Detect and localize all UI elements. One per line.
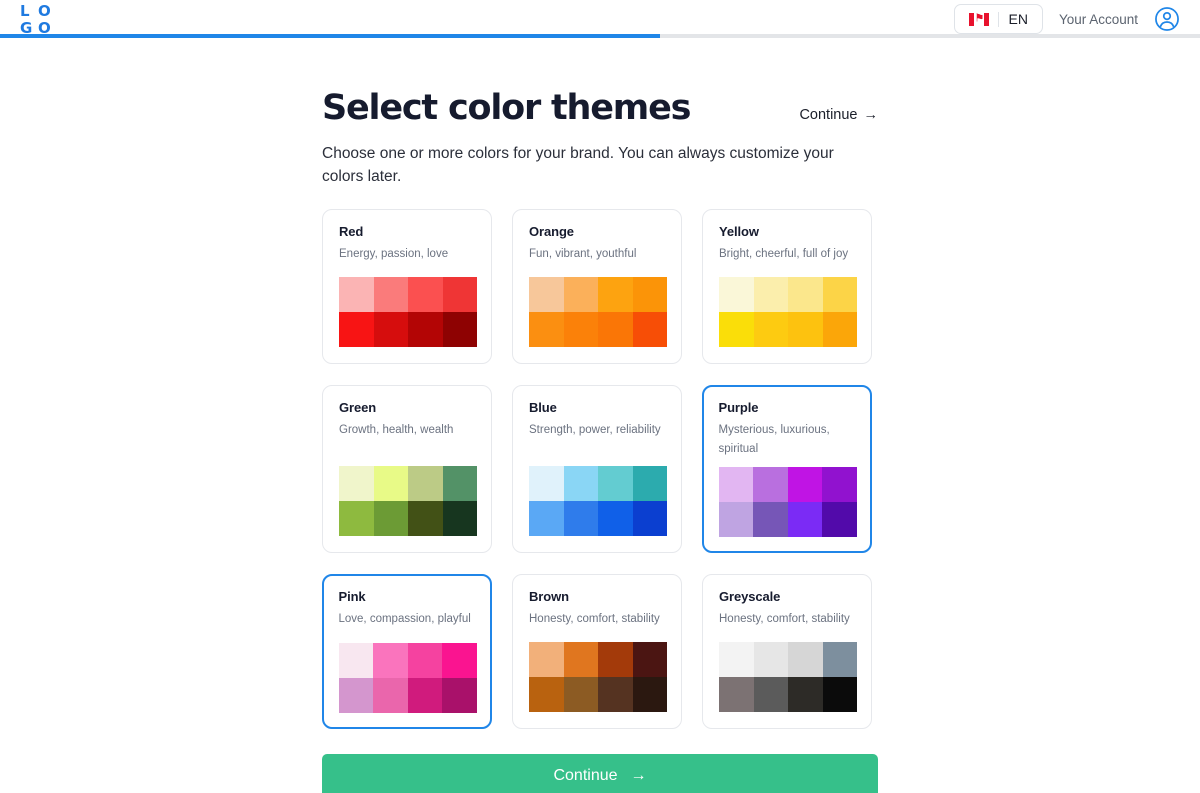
swatch-6: [754, 312, 789, 347]
swatch-4: [443, 277, 478, 312]
swatch-5: [529, 677, 564, 712]
swatch-8: [823, 312, 858, 347]
swatch-6: [374, 312, 409, 347]
swatch-2: [564, 642, 599, 677]
swatch-4: [822, 467, 857, 502]
swatch-1: [719, 642, 754, 677]
theme-card-blue[interactable]: BlueStrength, power, reliability: [512, 385, 682, 553]
theme-card-title: Brown: [529, 589, 665, 604]
swatch-2: [564, 277, 599, 312]
swatch-1: [339, 643, 374, 678]
theme-card-green[interactable]: GreenGrowth, health, wealth: [322, 385, 492, 553]
swatch-6: [753, 502, 788, 537]
swatch-8: [443, 312, 478, 347]
swatch-5: [529, 501, 564, 536]
swatch-5: [719, 312, 754, 347]
swatch-5: [339, 678, 374, 713]
main-content: Select color themes Continue → Choose on…: [0, 38, 1200, 793]
continue-button[interactable]: Continue →: [322, 754, 878, 793]
theme-card-description: Honesty, comfort, stability: [529, 610, 665, 629]
swatch-4: [443, 466, 478, 501]
swatch-7: [788, 502, 823, 537]
progress-fill: [0, 34, 660, 38]
swatch-1: [529, 277, 564, 312]
swatch-6: [564, 501, 599, 536]
swatch-6: [754, 677, 789, 712]
continue-button-label: Continue: [553, 767, 617, 785]
swatch-6: [373, 678, 408, 713]
swatch-4: [442, 643, 477, 678]
swatch-7: [788, 677, 823, 712]
theme-swatch-grid: [719, 642, 857, 712]
theme-card-brown[interactable]: BrownHonesty, comfort, stability: [512, 574, 682, 729]
theme-card-greyscale[interactable]: GreyscaleHonesty, comfort, stability: [702, 574, 872, 729]
language-switcher[interactable]: ⚑ EN: [954, 4, 1042, 34]
theme-card-purple[interactable]: PurpleMysterious, luxurious, spiritual: [702, 385, 872, 553]
theme-card-description: Honesty, comfort, stability: [719, 610, 855, 629]
swatch-8: [633, 677, 668, 712]
header-actions: ⚑ EN Your Account: [954, 4, 1180, 34]
swatch-3: [408, 466, 443, 501]
language-code: EN: [1008, 11, 1027, 27]
swatch-7: [788, 312, 823, 347]
theme-card-title: Purple: [719, 400, 856, 415]
continue-link-label: Continue: [799, 107, 857, 123]
swatch-3: [788, 467, 823, 502]
swatch-8: [633, 312, 668, 347]
theme-card-yellow[interactable]: YellowBright, cheerful, full of joy: [702, 209, 872, 364]
swatch-7: [598, 501, 633, 536]
continue-link[interactable]: Continue →: [799, 107, 878, 123]
swatch-4: [633, 642, 668, 677]
swatch-2: [754, 642, 789, 677]
theme-card-red[interactable]: RedEnergy, passion, love: [322, 209, 492, 364]
theme-card-title: Red: [339, 224, 475, 239]
swatch-7: [408, 501, 443, 536]
swatch-7: [598, 677, 633, 712]
theme-swatch-grid: [529, 642, 667, 712]
swatch-1: [529, 466, 564, 501]
swatch-7: [598, 312, 633, 347]
page-subtitle: Choose one or more colors for your brand…: [322, 142, 867, 188]
swatch-3: [788, 642, 823, 677]
theme-card-grid: RedEnergy, passion, loveOrangeFun, vibra…: [322, 209, 878, 729]
swatch-1: [339, 466, 374, 501]
theme-card-orange[interactable]: OrangeFun, vibrant, youthful: [512, 209, 682, 364]
swatch-7: [408, 312, 443, 347]
theme-swatch-grid: [529, 277, 667, 347]
theme-card-description: Strength, power, reliability: [529, 421, 665, 440]
swatch-5: [529, 312, 564, 347]
language-divider: [998, 12, 999, 27]
theme-card-description: Mysterious, luxurious, spiritual: [719, 421, 856, 459]
swatch-6: [564, 312, 599, 347]
account-label[interactable]: Your Account: [1059, 12, 1138, 27]
swatch-3: [788, 277, 823, 312]
theme-card-title: Orange: [529, 224, 665, 239]
swatch-3: [598, 466, 633, 501]
logo-letter-l: L: [20, 3, 37, 19]
theme-card-title: Greyscale: [719, 589, 855, 604]
swatch-8: [442, 678, 477, 713]
theme-card-title: Blue: [529, 400, 665, 415]
swatch-4: [633, 277, 668, 312]
theme-swatch-grid: [339, 277, 477, 347]
swatch-8: [443, 501, 478, 536]
page-title: Select color themes: [322, 88, 690, 128]
theme-card-description: Growth, health, wealth: [339, 421, 475, 440]
swatch-5: [339, 501, 374, 536]
swatch-2: [373, 643, 408, 678]
arrow-right-icon: →: [864, 107, 879, 123]
theme-card-title: Yellow: [719, 224, 855, 239]
swatch-4: [823, 277, 858, 312]
swatch-2: [754, 277, 789, 312]
swatch-3: [408, 277, 443, 312]
theme-card-description: Fun, vibrant, youthful: [529, 245, 665, 264]
swatch-5: [339, 312, 374, 347]
canada-flag-icon: ⚑: [969, 13, 989, 26]
theme-swatch-grid: [719, 277, 857, 347]
onboarding-progress-bar: [0, 34, 1200, 38]
swatch-2: [753, 467, 788, 502]
swatch-1: [719, 277, 754, 312]
swatch-1: [529, 642, 564, 677]
swatch-5: [719, 502, 754, 537]
swatch-8: [822, 502, 857, 537]
swatch-6: [564, 677, 599, 712]
swatch-8: [823, 677, 858, 712]
swatch-5: [719, 677, 754, 712]
swatch-2: [374, 466, 409, 501]
swatch-4: [823, 642, 858, 677]
swatch-2: [564, 466, 599, 501]
theme-swatch-grid: [339, 643, 477, 713]
swatch-3: [408, 643, 443, 678]
theme-card-description: Love, compassion, playful: [339, 610, 476, 629]
swatch-4: [633, 466, 668, 501]
arrow-right-icon: →: [631, 767, 647, 785]
swatch-3: [598, 642, 633, 677]
swatch-7: [408, 678, 443, 713]
swatch-8: [633, 501, 668, 536]
swatch-2: [374, 277, 409, 312]
swatch-1: [339, 277, 374, 312]
theme-swatch-grid: [529, 466, 667, 536]
theme-swatch-grid: [719, 467, 857, 537]
user-circle-icon[interactable]: [1154, 6, 1180, 32]
logo-letter-o: O: [38, 3, 55, 19]
swatch-1: [719, 467, 754, 502]
logo[interactable]: L O G O: [20, 3, 56, 37]
maple-leaf-glyph: ⚑: [975, 14, 985, 25]
swatch-6: [374, 501, 409, 536]
theme-card-title: Pink: [339, 589, 476, 604]
app-header: L O G O ⚑ EN Your Account: [0, 0, 1200, 38]
theme-card-description: Bright, cheerful, full of joy: [719, 245, 855, 264]
theme-swatch-grid: [339, 466, 477, 536]
theme-card-title: Green: [339, 400, 475, 415]
title-row: Select color themes Continue →: [322, 88, 878, 128]
theme-card-pink[interactable]: PinkLove, compassion, playful: [322, 574, 492, 729]
swatch-3: [598, 277, 633, 312]
theme-card-description: Energy, passion, love: [339, 245, 475, 264]
content-column: Select color themes Continue → Choose on…: [322, 38, 878, 793]
